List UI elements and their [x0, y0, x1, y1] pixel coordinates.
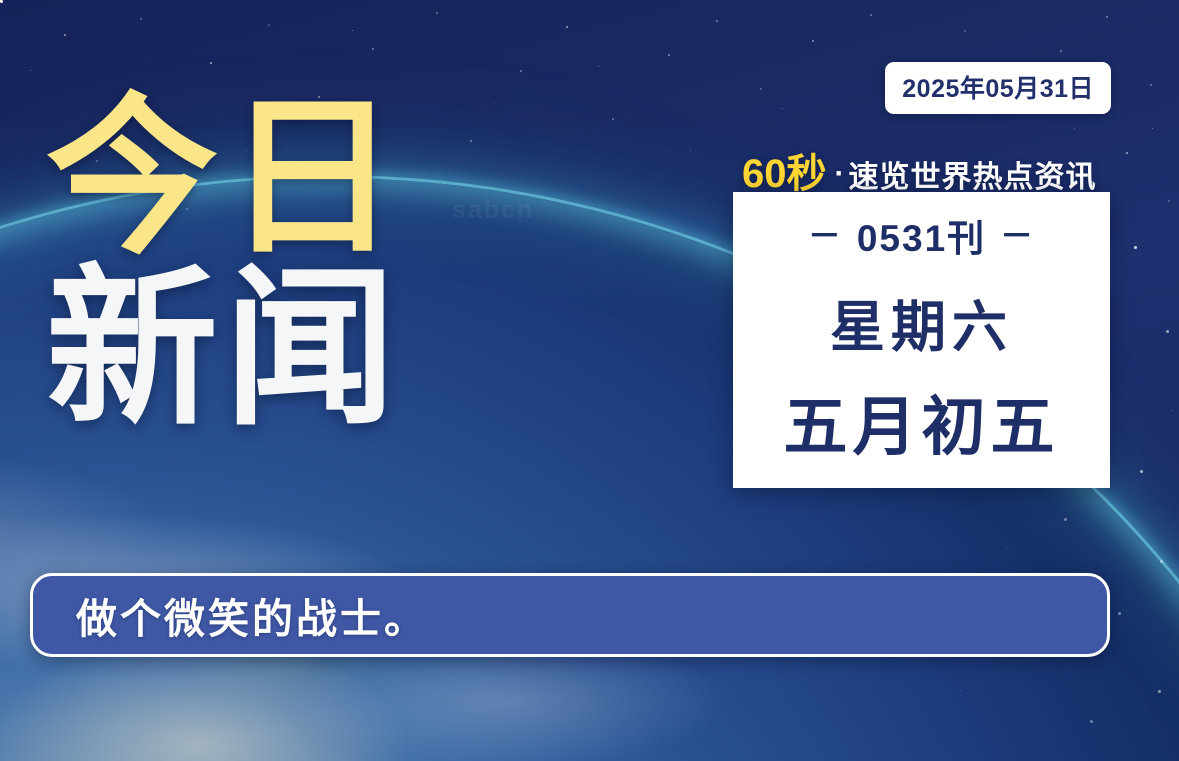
tagline-text: 速览世界热点资讯 — [849, 161, 1097, 194]
title-line-news: 新闻 — [46, 267, 406, 432]
date-info-card: － 0531刊 － 星期六 五月初五 — [733, 192, 1110, 488]
issue-dash-right: － — [1000, 219, 1035, 252]
background-watermark: sabcn — [452, 196, 534, 225]
issue-number: 0531刊 — [857, 208, 986, 262]
quote-text: 做个微笑的战士。 — [76, 585, 428, 645]
poster-canvas: sabcn 今日 新闻 2025年05月31日 60秒·速览世界热点资讯 － 0… — [0, 0, 1179, 761]
tagline-separator-dot: · — [835, 157, 845, 190]
issue-row: － 0531刊 － — [808, 208, 1035, 262]
lunar-date-label: 五月初五 — [784, 376, 1060, 468]
tagline: 60秒·速览世界热点资讯 — [742, 141, 1097, 199]
quote-bar: 做个微笑的战士。 — [30, 573, 1110, 657]
tagline-seconds: 60秒 — [742, 152, 827, 196]
issue-dash-left: － — [808, 219, 843, 252]
title-line-today: 今日 — [46, 96, 406, 261]
poster-title: 今日 新闻 — [46, 96, 406, 432]
date-badge: 2025年05月31日 — [885, 62, 1111, 114]
weekday-label: 星期六 — [830, 282, 1013, 362]
